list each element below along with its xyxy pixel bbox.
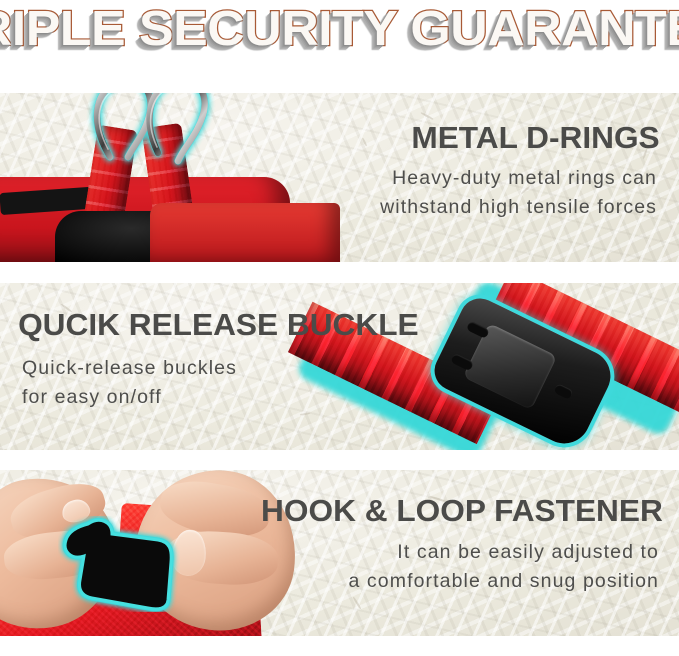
panel-3-body-line-2: a comfortable and snug position <box>265 567 659 596</box>
feature-panel-quick-release-buckle: QUCIK RELEASE BUCKLE Quick-release buckl… <box>0 283 679 450</box>
panel-3-text-block: HOOK & LOOP FASTENER It can be easily ad… <box>265 494 659 596</box>
panel-1-body-line-2: withstand high tensile forces <box>380 193 657 222</box>
panel-separator-3-right <box>300 636 679 656</box>
panel-3-heading: HOOK & LOOP FASTENER <box>261 494 663 528</box>
panel-1-text-block: METAL D-RINGS Heavy-duty metal rings can… <box>380 121 657 222</box>
feature-panel-metal-d-rings: METAL D-RINGS Heavy-duty metal rings can… <box>0 93 679 262</box>
panel-separator-1 <box>0 262 679 283</box>
panel-separator-2-left <box>0 450 400 470</box>
metal-d-rings-highlight <box>84 93 244 183</box>
panel-2-body-line-2: for easy on/off <box>22 383 415 412</box>
page-title: TRIPLE SECURITY GUARANTEE <box>0 3 679 55</box>
panel-1-body-line-1: Heavy-duty metal rings can <box>380 164 657 193</box>
panel-2-body-line-1: Quick-release buckles <box>22 354 415 383</box>
panel-1-heading: METAL D-RINGS <box>377 121 659 155</box>
feature-panel-hook-and-loop-fastener: HOOK & LOOP FASTENER It can be easily ad… <box>0 470 679 636</box>
panel-2-heading: QUCIK RELEASE BUCKLE <box>18 308 419 342</box>
header-banner: TRIPLE SECURITY GUARANTEE <box>0 0 679 93</box>
panel-2-text-block: QUCIK RELEASE BUCKLE Quick-release buckl… <box>22 308 415 412</box>
harness-body-right <box>150 203 340 262</box>
d-ring-photo <box>0 93 330 262</box>
hook-loop-patch-highlight <box>58 516 180 612</box>
hook-loop-photo <box>0 470 300 636</box>
panel-3-body-line-1: It can be easily adjusted to <box>265 538 659 567</box>
